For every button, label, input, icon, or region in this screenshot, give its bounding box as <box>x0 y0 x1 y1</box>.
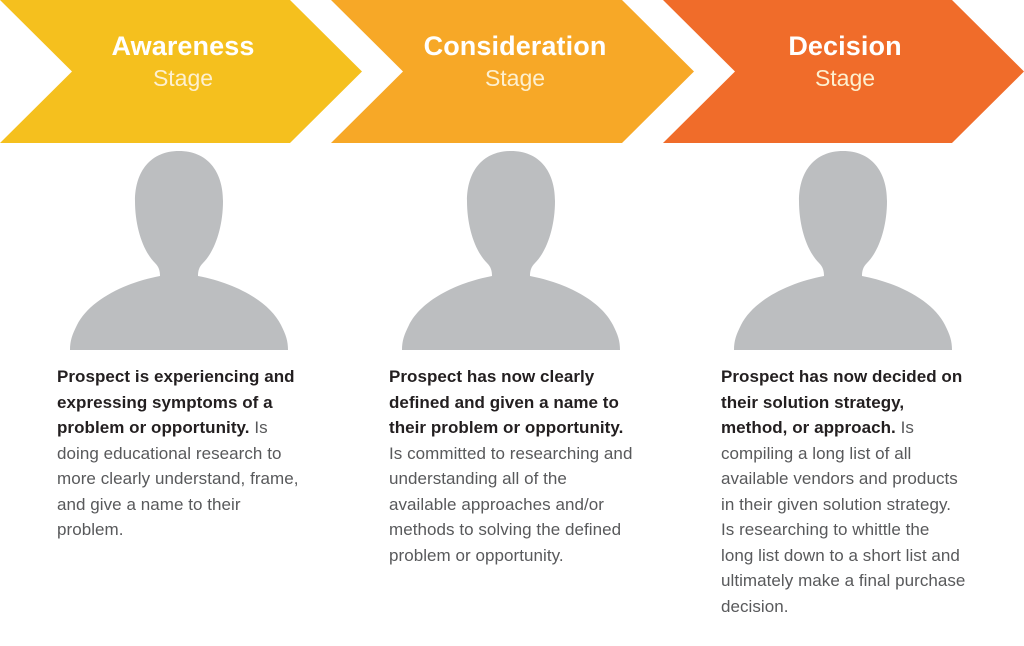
chevron-shapes <box>0 0 1024 143</box>
stage-column-decision: Prospect has now decided on their soluti… <box>721 143 1021 636</box>
stage-description-body: Is compiling a long list of all availabl… <box>721 418 965 616</box>
person-silhouette-icon <box>727 143 959 350</box>
chevron-shape-decision[interactable] <box>663 0 1024 143</box>
stage-chevron-band: Awareness Stage Consideration Stage Deci… <box>0 0 1024 143</box>
stage-columns: Prospect is experiencing and expressing … <box>0 143 1024 646</box>
avatar <box>727 143 959 350</box>
stage-description-lead: Prospect has now decided on their soluti… <box>721 367 962 437</box>
stage-description: Prospect has now clearly defined and giv… <box>389 364 634 568</box>
stage-description: Prospect has now decided on their soluti… <box>721 364 966 619</box>
stage-column-consideration: Prospect has now clearly defined and giv… <box>389 143 689 585</box>
stage-description: Prospect is experiencing and expressing … <box>57 364 302 543</box>
person-silhouette-icon <box>63 143 295 350</box>
buyer-journey-infographic: Awareness Stage Consideration Stage Deci… <box>0 0 1024 646</box>
avatar <box>63 143 295 350</box>
stage-description-lead: Prospect has now clearly defined and giv… <box>389 367 623 437</box>
stage-description-body: Is committed to researching and understa… <box>389 444 632 565</box>
person-silhouette-icon <box>395 143 627 350</box>
avatar <box>395 143 627 350</box>
chevron-shape-consideration[interactable] <box>331 0 694 143</box>
chevron-shape-awareness[interactable] <box>0 0 362 143</box>
stage-column-awareness: Prospect is experiencing and expressing … <box>57 143 357 560</box>
